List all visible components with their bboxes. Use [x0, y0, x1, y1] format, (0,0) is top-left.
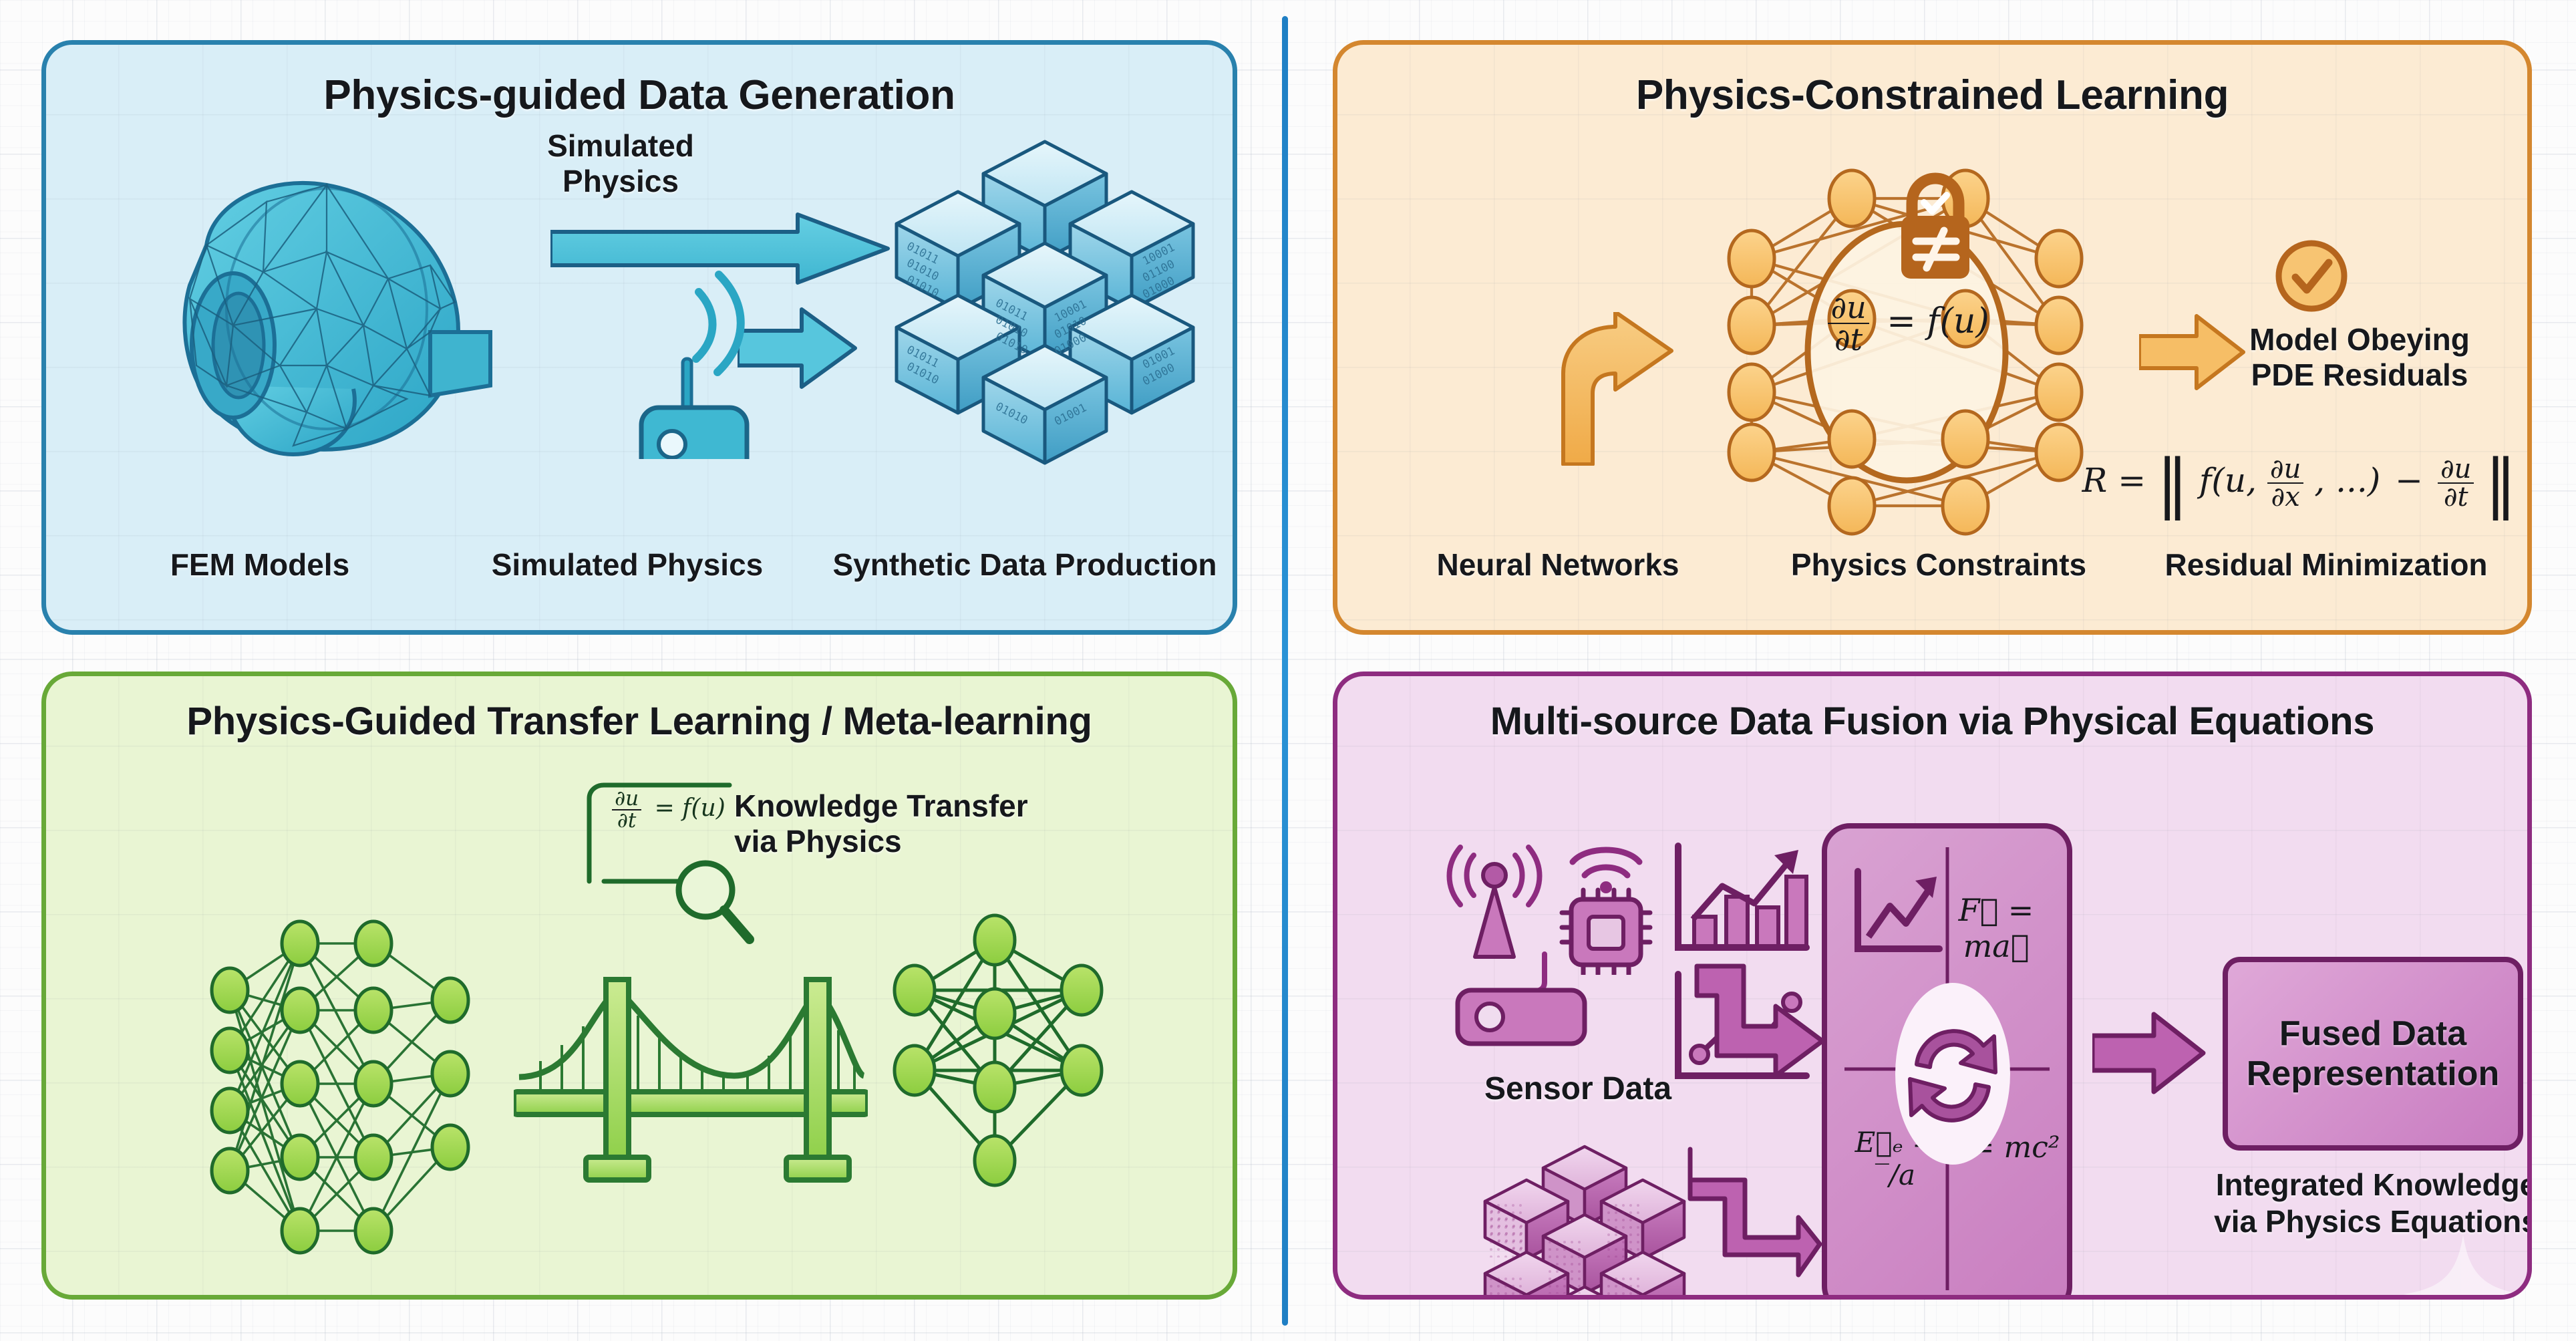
- transfer-eq-den: ∂t: [612, 809, 641, 831]
- fusion-equation-newton: F⃗ = ma⃗: [1936, 892, 2056, 964]
- curved-arrow-icon: [1558, 312, 1692, 466]
- fused-data-representation-box: Fused Data Representation: [2223, 957, 2523, 1151]
- residual-frac2-num: ∂u: [2438, 456, 2474, 482]
- sensor-box-icon: [1451, 943, 1598, 1050]
- fusion-equation-box: F⃗ = ma⃗ E⃗ₑ = ‾/a E = mc²: [1822, 823, 2072, 1300]
- residual-equation: R = ‖ f(u, ∂u ∂x , ...) − ∂u ∂t ‖: [2072, 446, 2527, 520]
- caption-fem-models: FEM Models: [86, 547, 434, 582]
- panel-physics-constrained-learning: Physics-Constrained Learning: [1333, 40, 2532, 635]
- transfer-label-line1: Knowledge Transfer: [734, 788, 1135, 824]
- sparkle-decoration: [2400, 1231, 2527, 1300]
- caption-neural-networks: Neural Networks: [1371, 547, 1745, 582]
- data-cubes-icon: [1474, 1137, 1695, 1300]
- residual-frac2-den: ∂t: [2438, 482, 2474, 510]
- pde-numerator: ∂u: [1828, 292, 1869, 323]
- lock-constraint-icon: [1885, 172, 1985, 285]
- output-label-line2: PDE Residuals: [2186, 357, 2532, 393]
- panel-physics-guided-data-generation: Physics-guided Data Generation Simulated…: [41, 40, 1237, 635]
- residual-lhs: R =: [2082, 461, 2146, 500]
- transfer-eq-rhs: = f(u): [655, 794, 726, 822]
- transfer-card-equation: ∂u ∂t = f(u): [589, 788, 749, 831]
- bridge-icon: [514, 937, 868, 1211]
- step-arrow-icon-bottom: [1685, 1137, 1825, 1298]
- panel-title: Physics-guided Data Generation: [46, 71, 1233, 119]
- caption-simulated-physics: Simulated Physics: [427, 547, 828, 582]
- trend-chart-icon: [1851, 867, 1945, 961]
- panel-title: Physics-Guided Transfer Learning / Meta-…: [46, 699, 1233, 744]
- binary-data-cubes-icon: 01011 01010 01010 01011 01010 01010 1000…: [878, 122, 1212, 469]
- arrow-label-simulated: Simulated: [514, 128, 728, 164]
- vertical-divider: [1282, 16, 1288, 1326]
- output-note-line2: via Physics Equations: [2169, 1204, 2532, 1239]
- arrow-label-physics: Physics: [514, 164, 728, 199]
- target-network-icon: [881, 913, 1135, 1207]
- transfer-label-line2: via Physics: [734, 824, 1135, 859]
- panel-physics-guided-transfer-learning: Physics-Guided Transfer Learning / Meta-…: [41, 672, 1237, 1300]
- panel-title: Multi-source Data Fusion via Physical Eq…: [1337, 699, 2527, 744]
- norm-open: ‖: [2156, 446, 2189, 520]
- transfer-eq-num: ∂u: [612, 788, 641, 809]
- pde-rhs: = f(u): [1887, 301, 1989, 341]
- caption-physics-constraints: Physics Constraints: [1738, 547, 2139, 582]
- panel-title: Physics-Constrained Learning: [1337, 71, 2527, 119]
- caption-synthetic-data-production: Synthetic Data Production: [814, 547, 1235, 582]
- pde-equation-in-network: ∂u ∂t = f(u): [1805, 292, 2012, 355]
- pde-denominator: ∂t: [1828, 323, 1869, 355]
- output-note-line1: Integrated Knowledge: [2169, 1167, 2532, 1203]
- step-arrow-icon-top: [1692, 962, 1825, 1116]
- caption-residual-minimization: Residual Minimization: [2126, 547, 2527, 582]
- panel-multi-source-data-fusion: Multi-source Data Fusion via Physical Eq…: [1333, 672, 2532, 1300]
- check-badge-icon: [2273, 237, 2350, 315]
- residual-minus: −: [2395, 461, 2423, 500]
- residual-f-open: f(u,: [2199, 461, 2257, 500]
- output-box-line1: Fused Data: [2279, 1014, 2466, 1054]
- source-network-icon: [203, 917, 510, 1278]
- label-sensor-data: Sensor Data: [1418, 1070, 1738, 1107]
- bar-chart-icon: [1671, 842, 1812, 962]
- magnifier-icon: [671, 855, 758, 949]
- sync-refresh-icon: [1891, 979, 2015, 1169]
- right-arrow-icon: [2092, 1010, 2206, 1097]
- residual-f-tail: , ...): [2314, 461, 2380, 500]
- fem-mesh-model-icon: [126, 165, 514, 479]
- output-label-line1: Model Obeying: [2186, 322, 2532, 357]
- wireless-sensor-icon: [617, 265, 771, 459]
- norm-close: ‖: [2484, 446, 2517, 520]
- residual-frac1-den: ∂x: [2267, 482, 2303, 510]
- output-box-line2: Representation: [2247, 1054, 2500, 1094]
- residual-frac1-num: ∂u: [2267, 456, 2303, 482]
